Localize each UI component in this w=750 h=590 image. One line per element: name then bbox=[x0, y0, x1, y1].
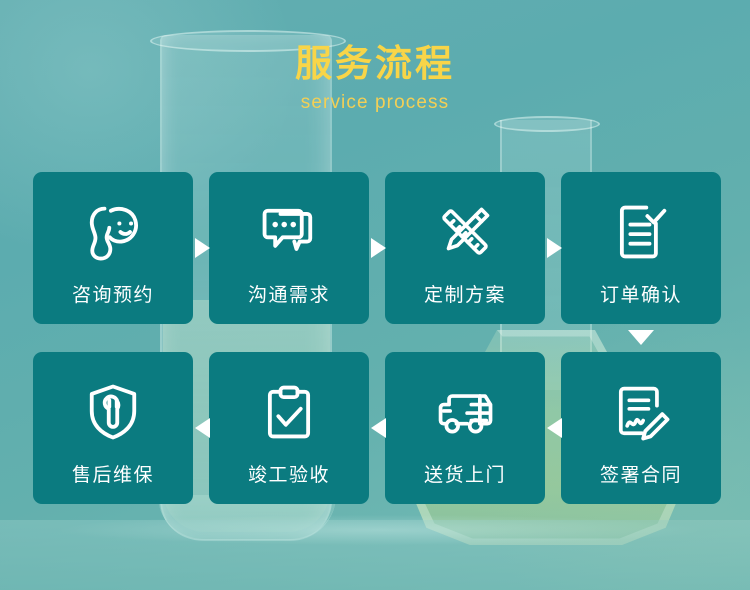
step-card-label: 售后维保 bbox=[72, 460, 154, 487]
step-card-label: 沟通需求 bbox=[248, 280, 330, 307]
step-card-delivery[interactable]: 送货上门 bbox=[385, 352, 545, 504]
document-check-icon bbox=[607, 198, 675, 266]
chat-bubbles-icon bbox=[255, 198, 323, 266]
step-card-label: 定制方案 bbox=[424, 280, 506, 307]
step-card-label: 签署合同 bbox=[600, 460, 682, 487]
connector-arrow-left bbox=[547, 418, 562, 438]
step-card-communication[interactable]: 沟通需求 bbox=[209, 172, 369, 324]
step-card-label: 竣工验收 bbox=[248, 460, 330, 487]
shield-wrench-icon bbox=[79, 378, 147, 446]
clipboard-check-icon bbox=[255, 378, 323, 446]
process-steps-grid: 咨询预约 沟通需求 bbox=[0, 0, 750, 590]
step-card-contract[interactable]: 签署合同 bbox=[561, 352, 721, 504]
step-card-custom-plan[interactable]: 定制方案 bbox=[385, 172, 545, 324]
connector-arrow-down bbox=[628, 330, 654, 345]
connector-arrow-left bbox=[195, 418, 210, 438]
contract-signature-icon bbox=[607, 378, 675, 446]
connector-arrow-right bbox=[195, 238, 210, 258]
step-card-label: 送货上门 bbox=[424, 460, 506, 487]
phone-smiley-icon bbox=[79, 198, 147, 266]
step-card-label: 订单确认 bbox=[600, 280, 682, 307]
step-card-acceptance[interactable]: 竣工验收 bbox=[209, 352, 369, 504]
delivery-truck-icon bbox=[431, 378, 499, 446]
connector-arrow-right bbox=[371, 238, 386, 258]
connector-arrow-left bbox=[371, 418, 386, 438]
step-card-consultation[interactable]: 咨询预约 bbox=[33, 172, 193, 324]
connector-arrow-right bbox=[547, 238, 562, 258]
pencil-ruler-icon bbox=[431, 198, 499, 266]
step-card-label: 咨询预约 bbox=[72, 280, 154, 307]
step-card-order-confirm[interactable]: 订单确认 bbox=[561, 172, 721, 324]
service-process-banner: 服务流程 service process 咨询预约 bbox=[0, 0, 750, 590]
step-card-after-sales[interactable]: 售后维保 bbox=[33, 352, 193, 504]
